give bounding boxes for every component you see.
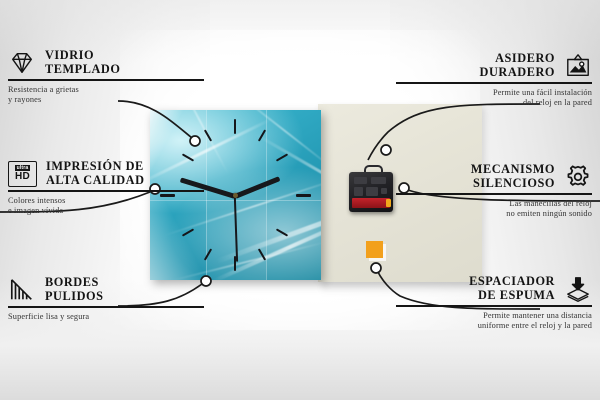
- callout-title-line1: BORDES: [45, 276, 104, 290]
- callout-subtitle-line2: no emiten ningún sonido: [396, 209, 592, 219]
- leader-endpoint-espaciador: [371, 263, 381, 273]
- hd-badge-main: HD: [15, 172, 30, 182]
- callout-title-line1: VIDRIO: [45, 49, 120, 63]
- callout-impresion-alta-calidad[interactable]: ultra HD IMPRESIÓN DE ALTA CALIDAD Color…: [8, 160, 204, 216]
- callout-subtitle-line2: y rayones: [8, 95, 204, 105]
- callout-title-line2: TEMPLADO: [45, 63, 120, 77]
- callout-asidero-duradero[interactable]: ASIDERO DURADERO Permite una fácil insta…: [396, 52, 592, 108]
- infographic-canvas: VIDRIO TEMPLADO Resistencia a grietas y …: [0, 0, 600, 400]
- callout-subtitle-line1: Superficie lisa y segura: [8, 312, 204, 322]
- callout-espaciador-de-espuma[interactable]: ESPACIADOR DE ESPUMA Permite mantener un…: [396, 275, 592, 331]
- hanging-frame-icon: [564, 53, 592, 79]
- diagonal-lines-icon: [8, 277, 36, 303]
- callout-subtitle-line1: Permite mantener una distancia: [396, 311, 592, 321]
- callout-divider: [396, 82, 592, 83]
- callout-subtitle-line2: uniforme entre el reloj y la pared: [396, 321, 592, 331]
- leader-endpoint-asidero: [381, 145, 391, 155]
- callout-divider: [8, 306, 204, 307]
- callout-mecanismo-silencioso[interactable]: MECANISMO SILENCIOSO Las manecillas del …: [396, 163, 592, 219]
- gear-icon: [564, 164, 592, 190]
- press-down-layers-icon: [564, 276, 592, 302]
- callout-vidrio-templado[interactable]: VIDRIO TEMPLADO Resistencia a grietas y …: [8, 49, 204, 105]
- callout-title-line2: DURADERO: [480, 66, 555, 80]
- callout-bordes-pulidos[interactable]: BORDES PULIDOS Superficie lisa y segura: [8, 276, 204, 322]
- callout-divider: [396, 305, 592, 306]
- callout-divider: [8, 190, 204, 191]
- callout-title-line2: ALTA CALIDAD: [46, 174, 145, 188]
- callout-divider: [396, 193, 592, 194]
- leader-line-vidrio-templado: [118, 101, 192, 138]
- leader-endpoint-vidrio-templado: [190, 136, 200, 146]
- callout-subtitle-line1: Colores intensos: [8, 196, 204, 206]
- callout-title-line1: MECANISMO: [471, 163, 555, 177]
- diamond-icon: [8, 50, 36, 76]
- callout-subtitle-line2: del reloj en la pared: [396, 98, 592, 108]
- callout-title-line2: SILENCIOSO: [471, 177, 555, 191]
- callout-subtitle-line1: Permite una fácil instalación: [396, 88, 592, 98]
- callout-subtitle-line2: e imagen vívida: [8, 206, 204, 216]
- callout-title-line1: IMPRESIÓN DE: [46, 160, 145, 174]
- callout-subtitle-line1: Las manecillas del reloj: [396, 199, 592, 209]
- callout-subtitle-line1: Resistencia a grietas: [8, 85, 204, 95]
- callout-divider: [8, 79, 204, 80]
- callout-title-line2: PULIDOS: [45, 290, 104, 304]
- ultra-hd-icon: ultra HD: [8, 161, 37, 187]
- callout-title-line1: ESPACIADOR: [469, 275, 555, 289]
- callout-title-line1: ASIDERO: [480, 52, 555, 66]
- callout-title-line2: DE ESPUMA: [469, 289, 555, 303]
- leader-line-asidero: [368, 104, 540, 160]
